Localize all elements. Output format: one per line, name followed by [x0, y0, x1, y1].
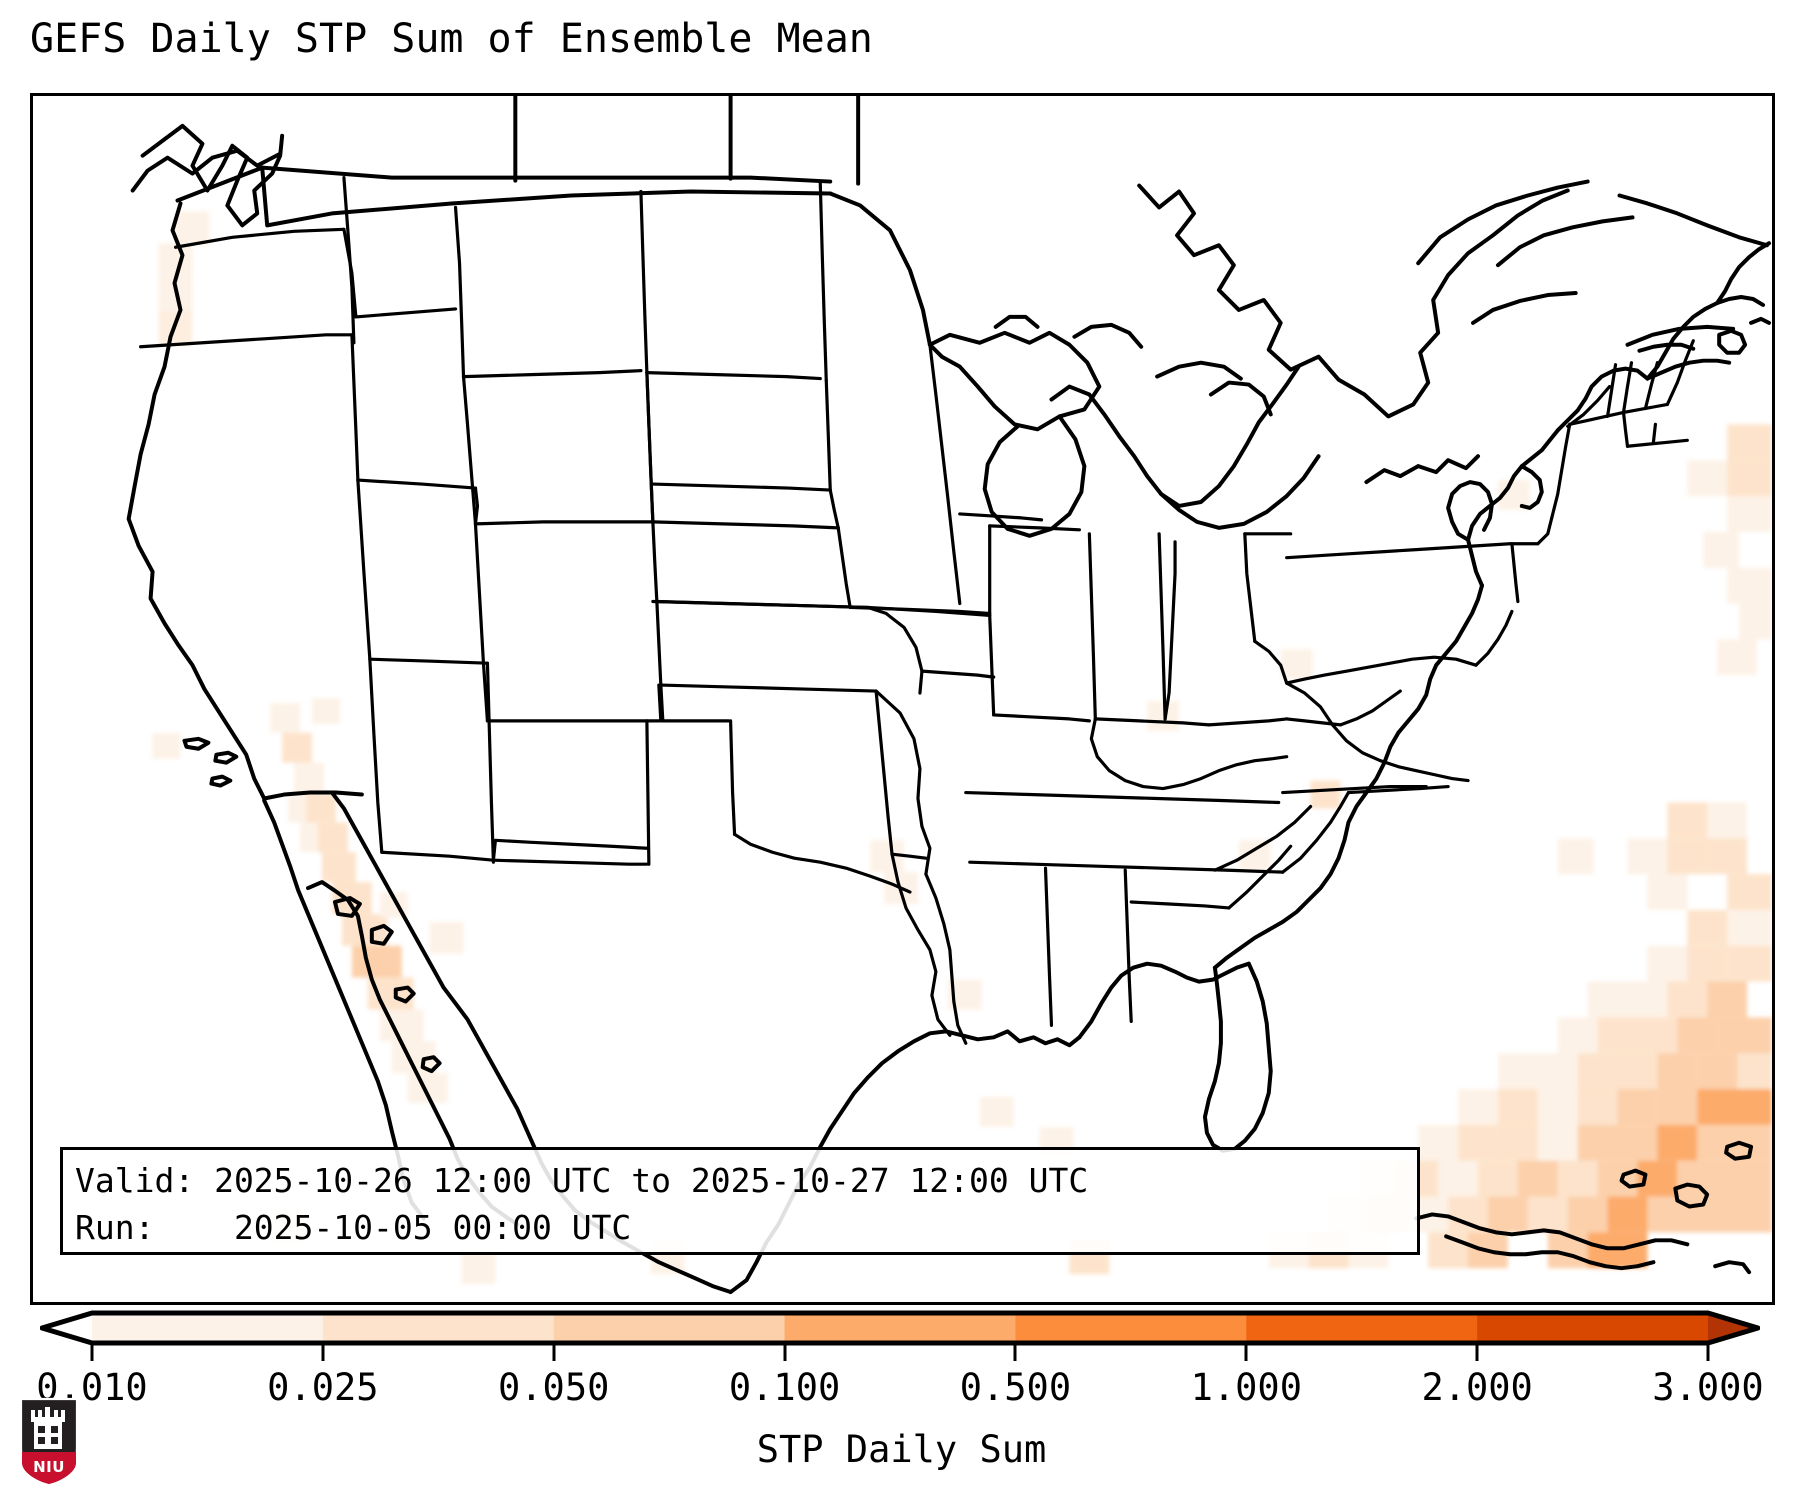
colorbar-band-6: [1477, 1313, 1708, 1343]
colorbar-band-4: [1015, 1313, 1246, 1343]
colorbar-tick-3: [783, 1344, 786, 1361]
annotation-box: Valid: 2025-10-26 12:00 UTC to 2025-10-2…: [60, 1147, 1420, 1255]
map-panel[interactable]: [30, 93, 1775, 1305]
colorbar-band-5: [1246, 1313, 1477, 1343]
colorbar-tick-5: [1245, 1344, 1248, 1361]
colorbar-graphic: [40, 1310, 1760, 1346]
colorbar-ticks: [40, 1344, 1760, 1362]
colorbar-tick-label-2: 0.050: [498, 1366, 609, 1409]
colorbar-bands: [92, 1313, 1709, 1343]
colorbar[interactable]: [40, 1310, 1760, 1346]
colorbar-tick-label-3: 0.100: [729, 1366, 840, 1409]
colorbar-band-0: [92, 1313, 323, 1343]
colorbar-axis-label: STP Daily Sum: [0, 1428, 1803, 1471]
colorbar-tick-6: [1476, 1344, 1479, 1361]
colorbar-tick-label-4: 0.500: [960, 1366, 1071, 1409]
colorbar-band-2: [554, 1313, 785, 1343]
colorbar-tick-7: [1707, 1344, 1710, 1361]
niu-logo: NIU: [18, 1396, 80, 1488]
colorbar-band-1: [323, 1313, 554, 1343]
valid-time-text: Valid: 2025-10-26 12:00 UTC to 2025-10-2…: [75, 1157, 1405, 1204]
colorbar-band-3: [785, 1313, 1016, 1343]
niu-shield-icon: NIU: [18, 1396, 80, 1488]
colorbar-tick-label-5: 1.000: [1191, 1366, 1302, 1409]
colorbar-tick-2: [552, 1344, 555, 1361]
colorbar-tick-label-6: 2.000: [1421, 1366, 1532, 1409]
map-graphic: [33, 96, 1772, 1302]
colorbar-tick-labels: 0.0100.0250.0500.1000.5001.0002.0003.000: [0, 1366, 1803, 1416]
colorbar-tick-0: [91, 1344, 94, 1361]
state-borders: [141, 178, 1694, 1044]
figure-canvas: GEFS Daily STP Sum of Ensemble Mean: [0, 0, 1803, 1500]
map-clip: [33, 96, 1772, 1302]
colorbar-tick-label-7: 3.000: [1652, 1366, 1763, 1409]
colorbar-tick-4: [1014, 1344, 1017, 1361]
niu-wordmark: NIU: [33, 1458, 65, 1476]
colorbar-tick-1: [321, 1344, 324, 1361]
page-title: GEFS Daily STP Sum of Ensemble Mean: [30, 16, 873, 62]
run-time-text: Run: 2025-10-05 00:00 UTC: [75, 1204, 1405, 1251]
colorbar-tick-label-1: 0.025: [267, 1366, 378, 1409]
